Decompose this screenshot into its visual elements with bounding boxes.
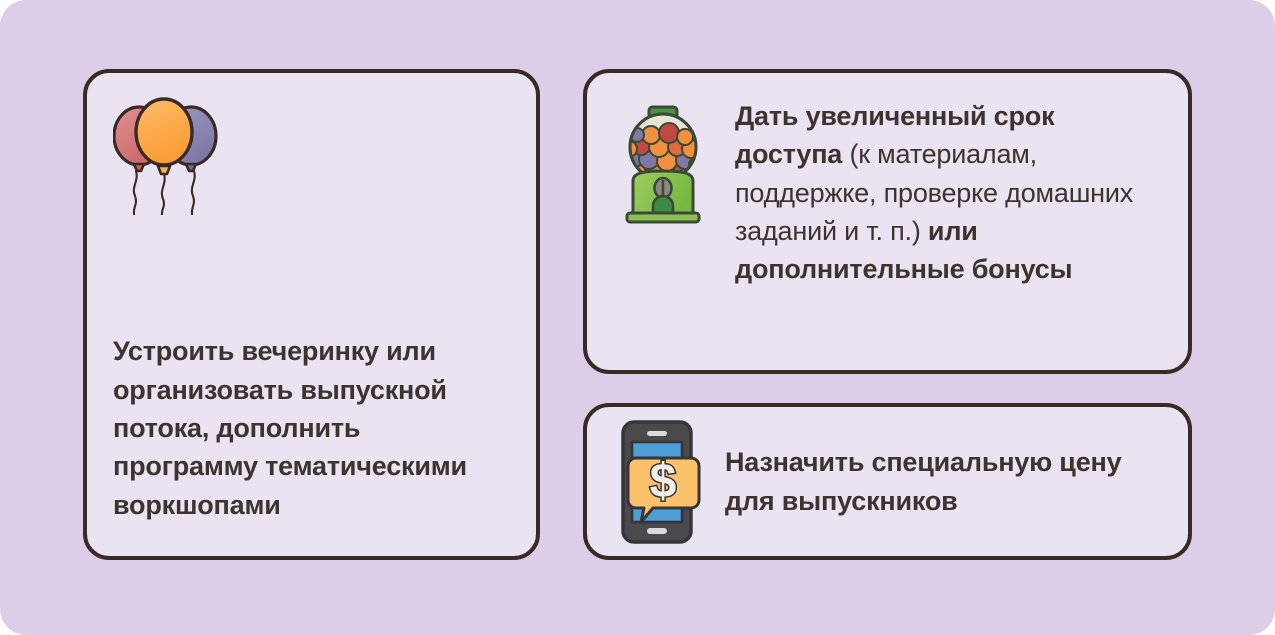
phone-dollar-icon: $ <box>613 418 701 546</box>
card-party-text: Устроить вечеринку или организовать выпу… <box>113 332 510 534</box>
infographic-canvas: Устроить вечеринку или организовать выпу… <box>0 0 1275 635</box>
card-price: $ Назначить специальную цену для выпускн… <box>583 403 1192 560</box>
gumball-machine-icon <box>613 101 713 229</box>
card-price-text: Назначить специальную цену для выпускник… <box>725 443 1162 520</box>
balloons-icon <box>113 97 243 215</box>
card-access-text: Дать увеличенный срок доступа (к материа… <box>735 95 1162 289</box>
svg-text:$: $ <box>650 455 677 508</box>
card-party: Устроить вечеринку или организовать выпу… <box>83 69 540 560</box>
card-access: Дать увеличенный срок доступа (к материа… <box>583 69 1192 374</box>
gumball-machine-icon-svg <box>613 101 713 229</box>
phone-dollar-icon-svg: $ <box>613 418 701 546</box>
balloons-icon-svg <box>113 97 243 215</box>
